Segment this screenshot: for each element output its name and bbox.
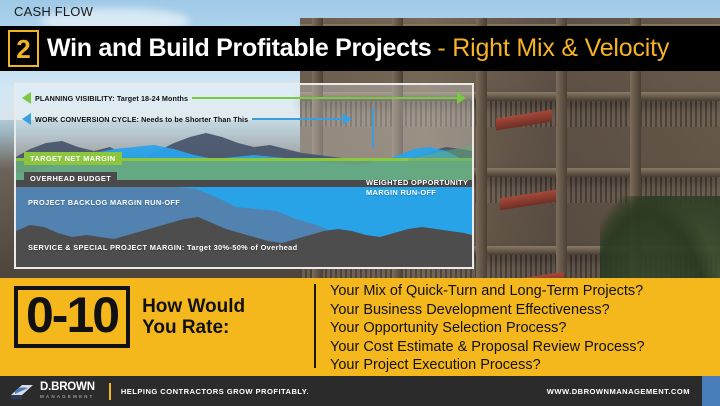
list-item: Your Business Development Effectiveness? — [330, 301, 714, 320]
brand-logo: D.BROWN MANAGEMENT — [9, 382, 95, 399]
rating-prompt: How Would You Rate: — [142, 296, 245, 339]
rating-question-list: Your Mix of Quick-Turn and Long-Term Pro… — [330, 282, 714, 375]
page-subtitle: - Right Mix & Velocity — [437, 34, 669, 63]
title-bar: 2 Win and Build Profitable Projects - Ri… — [0, 26, 720, 71]
planning-visibility-arrow: PLANNING VISIBILITY: Target 18-24 Months — [22, 91, 466, 105]
footer-accent-block — [702, 376, 720, 406]
step-number-badge: 2 — [8, 30, 39, 67]
work-conversion-label: WORK CONVERSION CYCLE: Needs to be Short… — [31, 115, 252, 124]
brand-name: D.BROWN — [40, 382, 95, 394]
list-item: Your Cost Estimate & Proposal Review Pro… — [330, 338, 714, 357]
overhead-budget-tag: OVERHEAD BUDGET — [24, 172, 117, 185]
slide-root: CASH FLOW 2 Win and Build Profitable Pro… — [0, 0, 720, 406]
rating-scale-badge: 0-10 — [14, 286, 130, 348]
page-title: Win and Build Profitable Projects — [47, 34, 431, 63]
kicker-label: CASH FLOW — [14, 4, 93, 19]
brand-subtitle: MANAGEMENT — [40, 395, 95, 400]
list-item: Your Opportunity Selection Process? — [330, 319, 714, 338]
footer-website-url[interactable]: WWW.DBROWNMANAGEMENT.COM — [547, 387, 690, 396]
rating-prompt-group: 0-10 How Would You Rate: — [14, 286, 245, 348]
work-conversion-arrow: WORK CONVERSION CYCLE: Needs to be Short… — [22, 112, 352, 126]
list-item: Your Project Execution Process? — [330, 356, 714, 375]
planning-visibility-label: PLANNING VISIBILITY: Target 18-24 Months — [31, 94, 192, 103]
arrow-line — [252, 118, 343, 120]
arrow-left-icon — [22, 113, 31, 125]
footer-separator — [109, 383, 111, 400]
rating-band: 0-10 How Would You Rate: Your Mix of Qui… — [0, 278, 720, 376]
rating-prompt-line2: You Rate: — [142, 317, 245, 338]
dbrown-logo-icon — [9, 383, 35, 400]
arrow-left-icon — [22, 92, 31, 104]
rating-prompt-line1: How Would — [142, 296, 245, 317]
arrow-line — [192, 97, 457, 99]
list-item: Your Mix of Quick-Turn and Long-Term Pro… — [330, 282, 714, 301]
conversion-cycle-marker — [372, 108, 374, 148]
project-backlog-label: PROJECT BACKLOG MARGIN RUN-OFF — [28, 198, 180, 208]
rating-divider — [314, 284, 316, 368]
weighted-opportunity-label: WEIGHTED OPPORTUNITY MARGIN RUN-OFF — [366, 178, 474, 198]
target-net-margin-tag: TARGET NET MARGIN — [24, 152, 122, 165]
service-margin-label: SERVICE & SPECIAL PROJECT MARGIN: Target… — [28, 243, 297, 253]
footer-tagline: HELPING CONTRACTORS GROW PROFITABLY. — [121, 387, 309, 396]
footer-bar: D.BROWN MANAGEMENT HELPING CONTRACTORS G… — [0, 376, 720, 406]
brand-text: D.BROWN MANAGEMENT — [40, 382, 95, 399]
arrow-right-icon — [343, 113, 352, 125]
cash-flow-chart-panel: PLANNING VISIBILITY: Target 18-24 Months… — [14, 83, 474, 269]
arrow-right-icon — [457, 92, 466, 104]
